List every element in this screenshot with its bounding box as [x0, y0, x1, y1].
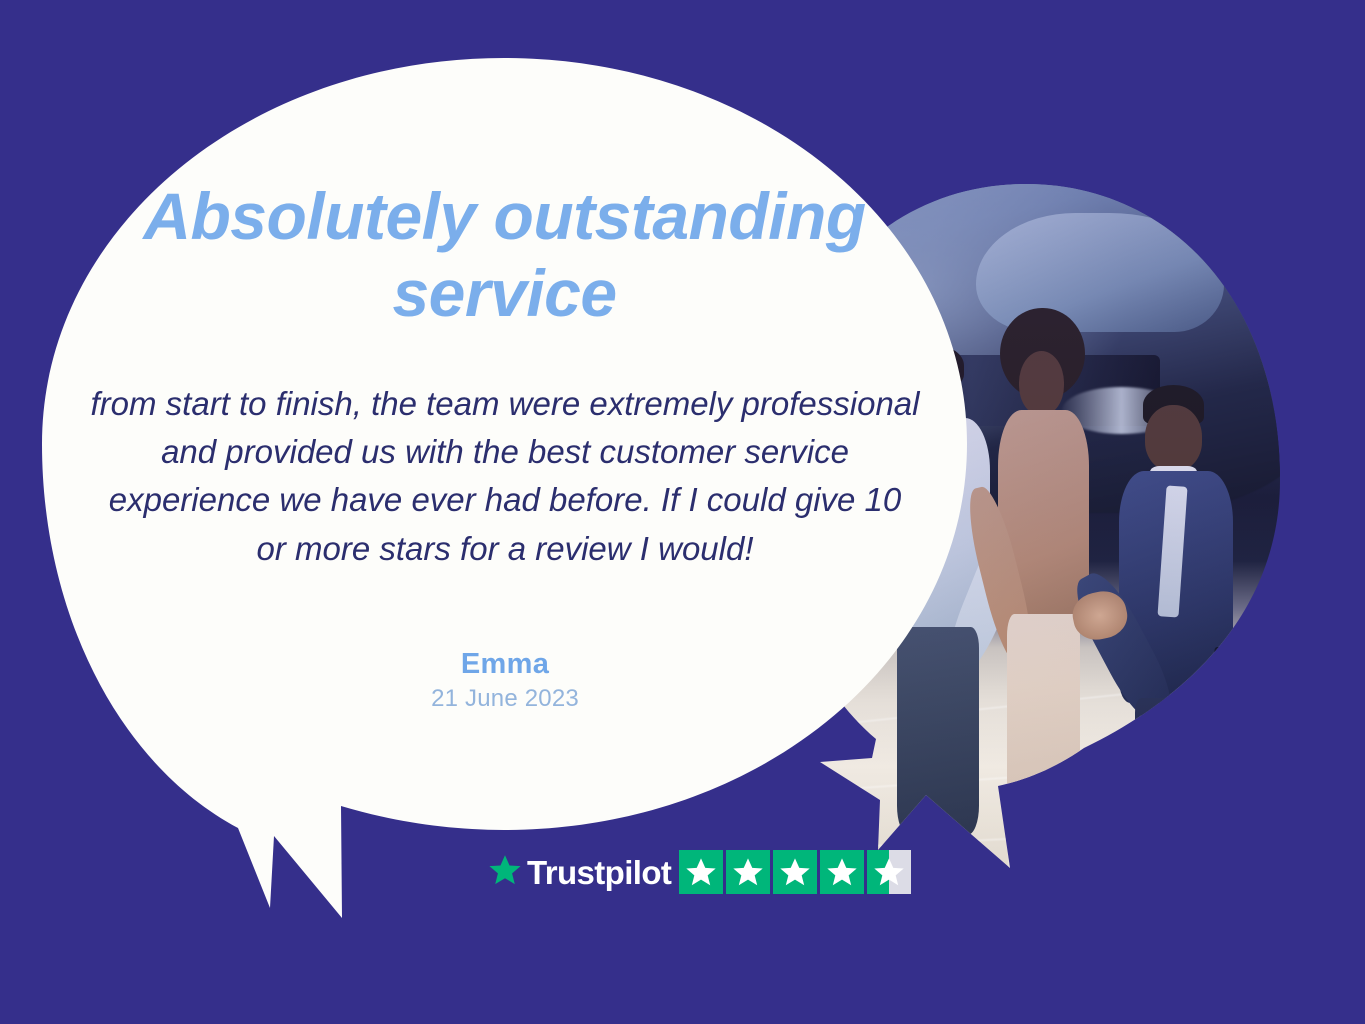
trustpilot-logo[interactable]: Trustpilot: [487, 853, 671, 892]
trustpilot-star-rating[interactable]: [679, 850, 911, 894]
review-date: 21 June 2023: [90, 682, 920, 717]
reviewer-name: Emma: [90, 646, 920, 682]
trustpilot-badge[interactable]: Trustpilot: [487, 850, 911, 894]
trustpilot-star-4[interactable]: [820, 850, 864, 894]
trustpilot-star-3[interactable]: [773, 850, 817, 894]
review-headline: Absolutely outstanding service: [102, 178, 907, 332]
review-attribution: Emma 21 June 2023: [90, 646, 920, 717]
salesperson: [1116, 395, 1235, 901]
trustpilot-star-icon: [487, 853, 523, 892]
review-card: Absolutely outstanding service from star…: [0, 0, 1365, 1024]
trustpilot-star-5[interactable]: [867, 850, 911, 894]
trustpilot-wordmark: Trustpilot: [527, 856, 671, 889]
trustpilot-star-1[interactable]: [679, 850, 723, 894]
review-body-text: from start to finish, the team were extr…: [90, 380, 920, 573]
trustpilot-star-2[interactable]: [726, 850, 770, 894]
floor-tile-line: [771, 824, 1278, 853]
car-window: [976, 213, 1224, 332]
